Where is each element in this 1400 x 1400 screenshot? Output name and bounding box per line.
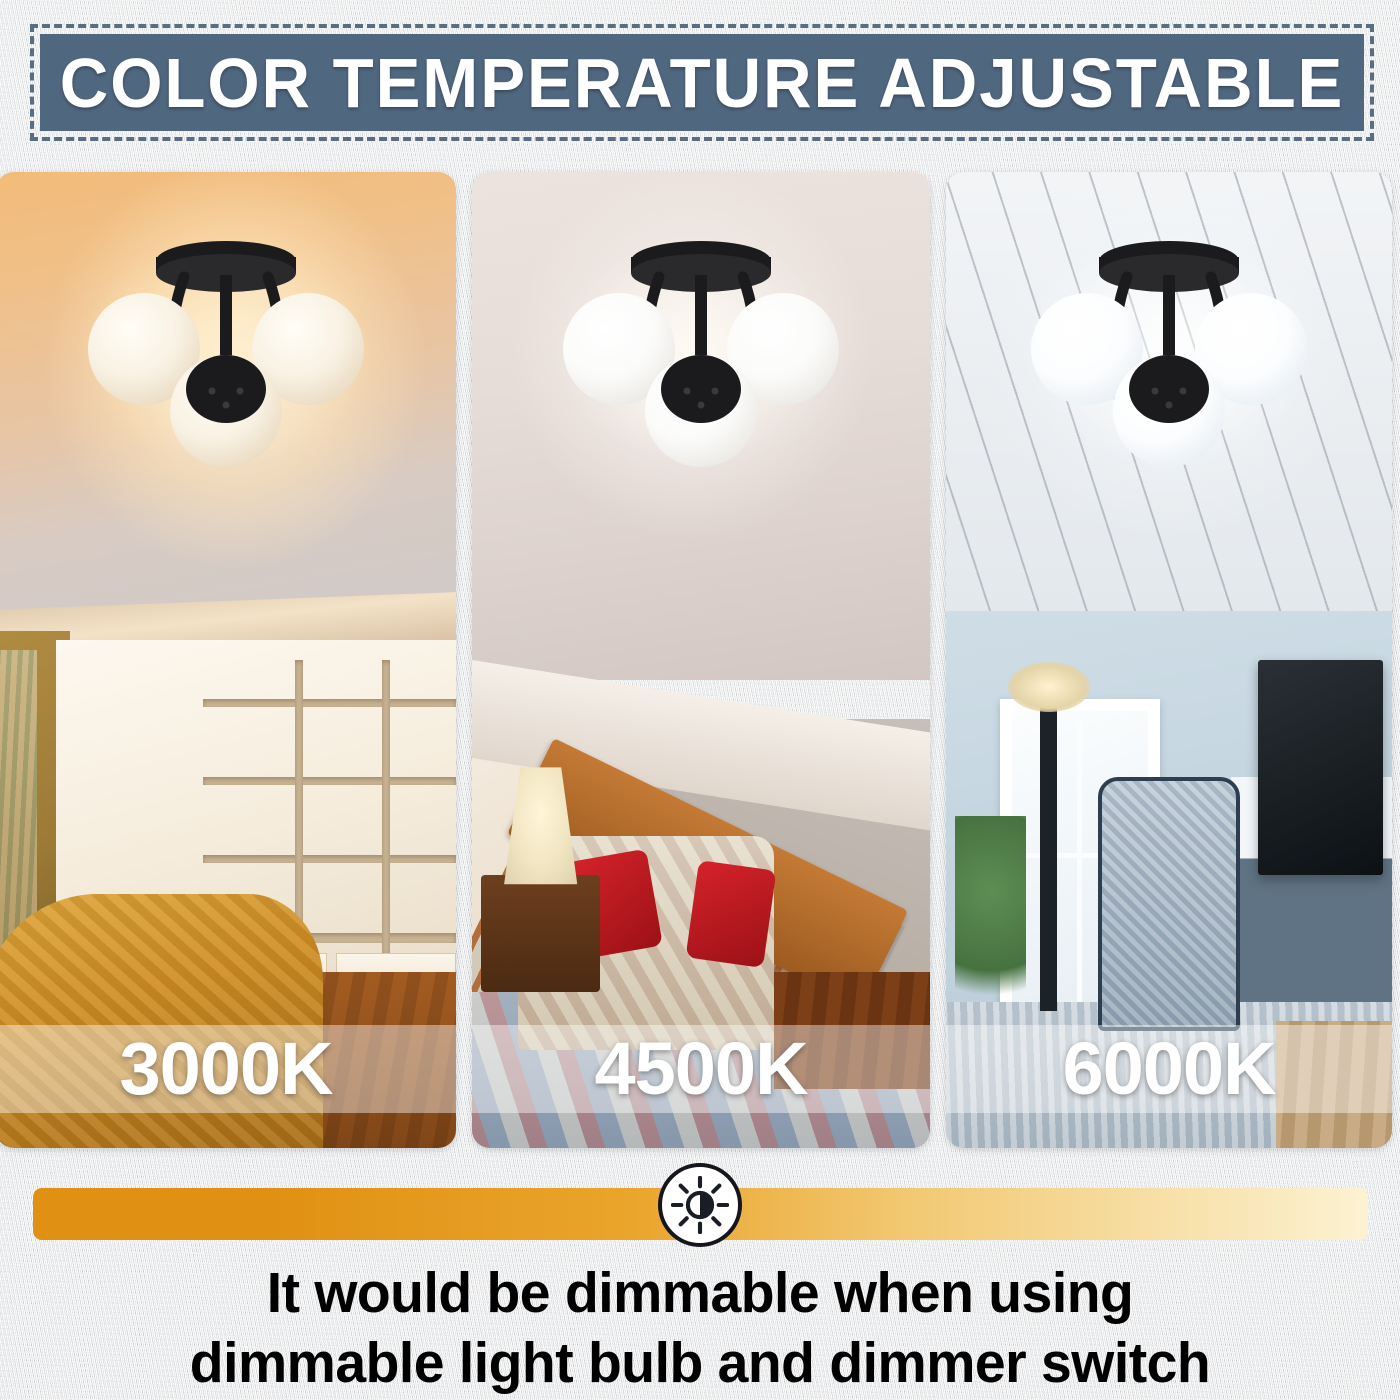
ceiling-light-fixture [551, 231, 851, 491]
temperature-label-band: 4500K [472, 1025, 930, 1113]
caption-line-1: It would be dimmable when using [21, 1258, 1379, 1328]
temperature-label: 4500K [594, 1032, 807, 1106]
armchair [1098, 777, 1241, 1031]
scene-stairwell-neutral [472, 172, 930, 1148]
footer-caption: It would be dimmable when using dimmable… [0, 1258, 1400, 1398]
brightness-slider-knob[interactable] [658, 1163, 742, 1247]
header-banner: COLOR TEMPERATURE ADJUSTABLE [40, 34, 1364, 131]
bookshelf-ledge [203, 699, 456, 707]
product-infographic: COLOR TEMPERATURE ADJUSTABLE [0, 0, 1400, 1400]
red-pillow [685, 860, 776, 967]
bookshelf-ledge [203, 777, 456, 785]
scene-bedroom-warm [0, 172, 456, 1148]
ceiling-light-fixture [1019, 231, 1319, 491]
brightness-icon [671, 1176, 729, 1234]
caption-line-2: dimmable light bulb and dimmer switch [21, 1328, 1379, 1398]
side-table [481, 875, 600, 992]
bookshelf-divider [295, 660, 303, 953]
temperature-label: 6000K [1062, 1032, 1275, 1106]
header-banner-frame: COLOR TEMPERATURE ADJUSTABLE [30, 24, 1374, 141]
color-temperature-panel-4500k: 4500K [472, 172, 930, 1148]
ceiling-light-fixture [76, 231, 376, 491]
wall-mounted-tv [1258, 660, 1383, 875]
houseplant [955, 816, 1026, 1031]
color-temperature-panel-3000k: 3000K [0, 172, 456, 1148]
floor-lamp [1040, 699, 1058, 1011]
color-temperature-panel-6000k: 6000K [946, 172, 1392, 1148]
temperature-label-band: 6000K [946, 1025, 1392, 1113]
bookshelf-divider [382, 660, 390, 953]
temperature-label-band: 3000K [0, 1025, 456, 1113]
scene-livingroom-cool [946, 172, 1392, 1148]
temperature-label: 3000K [119, 1032, 332, 1106]
bookshelf-ledge [203, 855, 456, 863]
page-title: COLOR TEMPERATURE ADJUSTABLE [60, 48, 1345, 118]
